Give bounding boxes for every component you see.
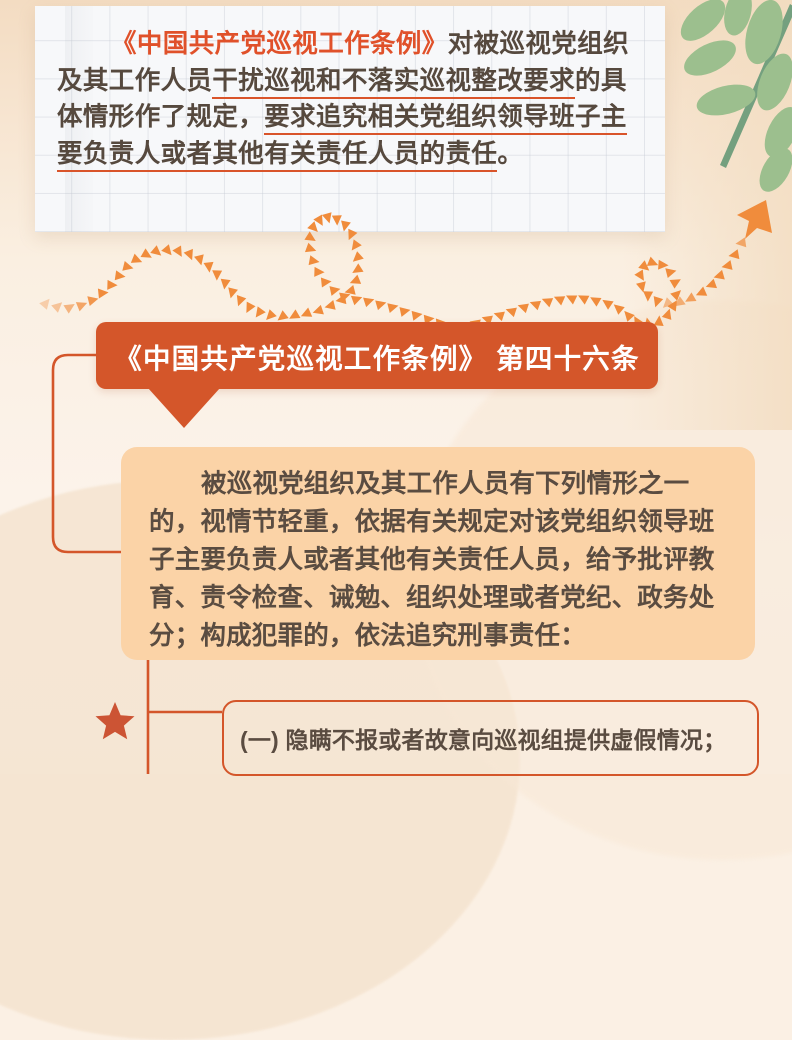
list-item-label: (一) 隐瞒不报或者故意向巡视组提供虚假情况； xyxy=(224,721,726,755)
list-item: (一) 隐瞒不报或者故意向巡视组提供虚假情况； xyxy=(222,700,759,776)
note-regulation-title: 《中国共产党巡视工作条例》 xyxy=(111,30,448,58)
banner-body: 《中国共产党巡视工作条例》 第四十六条 xyxy=(96,322,658,389)
note-card-text: 《中国共产党巡视工作条例》对被巡视党组织及其工作人员干扰巡视和不落实巡视整改要求… xyxy=(57,26,647,172)
section-banner: 《中国共产党巡视工作条例》 第四十六条 xyxy=(96,322,658,389)
note-segment-plain-3: 。 xyxy=(497,140,523,168)
banner-tail-triangle xyxy=(148,388,220,428)
main-paragraph-box: 被巡视党组织及其工作人员有下列情形之一的，视情节轻重，依据有关规定对该党组织领导… xyxy=(121,447,755,660)
star-icon xyxy=(94,700,136,747)
note-segment-underline-1: 干扰巡视和不落实巡视整改要求 xyxy=(212,67,575,99)
main-paragraph-text: 被巡视党组织及其工作人员有下列情形之一的，视情节轻重，依据有关规定对该党组织领导… xyxy=(149,465,731,655)
banner-title: 《中国共产党巡视工作条例》 第四十六条 xyxy=(114,336,639,376)
